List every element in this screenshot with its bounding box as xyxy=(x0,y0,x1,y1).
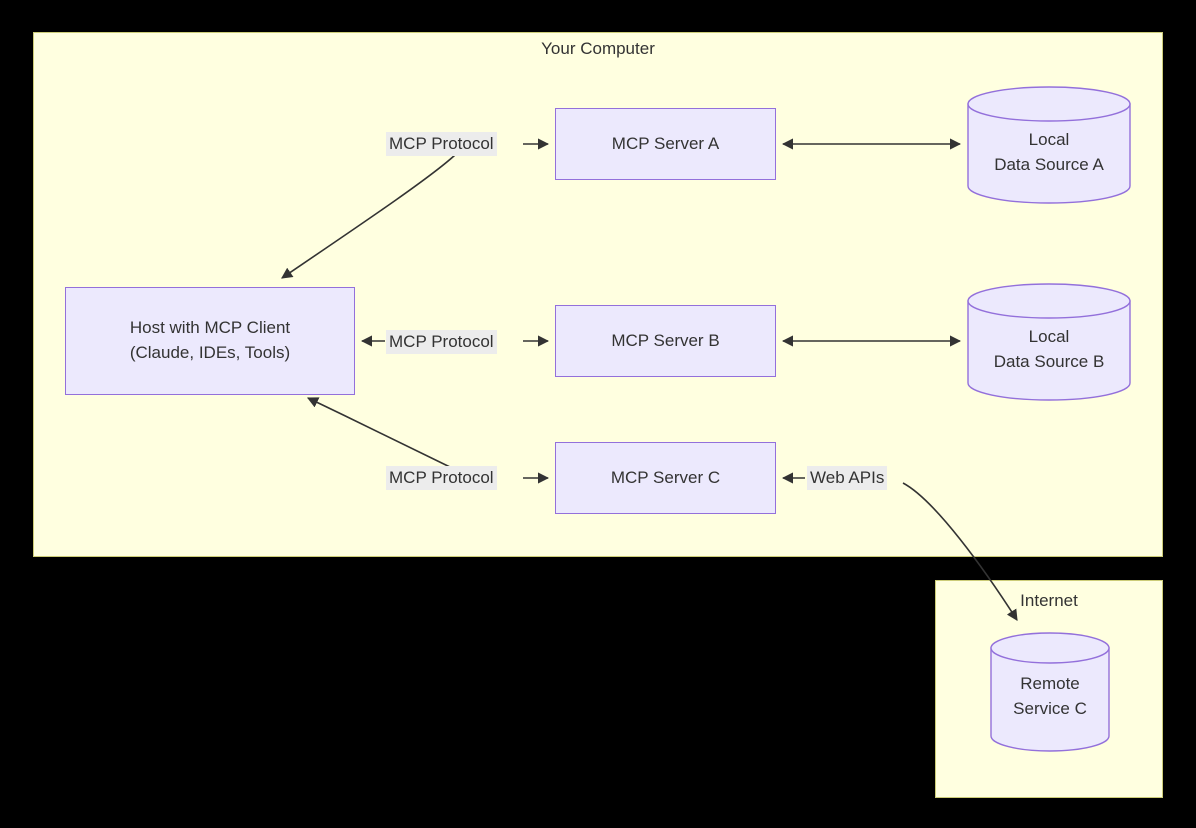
node-mcp-server-c[interactable]: MCP Server C xyxy=(555,442,776,514)
cylinder-icon xyxy=(967,86,1131,204)
server-b-label: MCP Server B xyxy=(611,329,719,354)
node-remote-service-c[interactable]: Remote Service C xyxy=(990,632,1110,752)
diagram-canvas: Your Computer Internet xyxy=(0,0,1196,828)
edge-label-mcp-protocol-a: MCP Protocol xyxy=(386,132,497,156)
edge-label-mcp-protocol-c: MCP Protocol xyxy=(386,466,497,490)
edge-label-web-apis: Web APIs xyxy=(807,466,887,490)
host-label-line2: (Claude, IDEs, Tools) xyxy=(130,341,290,366)
cylinder-icon xyxy=(967,283,1131,401)
server-a-label: MCP Server A xyxy=(612,132,719,157)
node-local-data-source-a[interactable]: Local Data Source A xyxy=(967,86,1131,204)
node-mcp-server-a[interactable]: MCP Server A xyxy=(555,108,776,180)
node-mcp-server-b[interactable]: MCP Server B xyxy=(555,305,776,377)
node-host-with-mcp-client[interactable]: Host with MCP Client (Claude, IDEs, Tool… xyxy=(65,287,355,395)
cylinder-icon xyxy=(990,632,1110,752)
server-c-label: MCP Server C xyxy=(611,466,720,491)
subgraph-title-your-computer: Your Computer xyxy=(34,39,1162,59)
subgraph-title-internet: Internet xyxy=(936,591,1162,611)
host-label-line1: Host with MCP Client xyxy=(130,316,290,341)
node-local-data-source-b[interactable]: Local Data Source B xyxy=(967,283,1131,401)
edge-label-mcp-protocol-b: MCP Protocol xyxy=(386,330,497,354)
